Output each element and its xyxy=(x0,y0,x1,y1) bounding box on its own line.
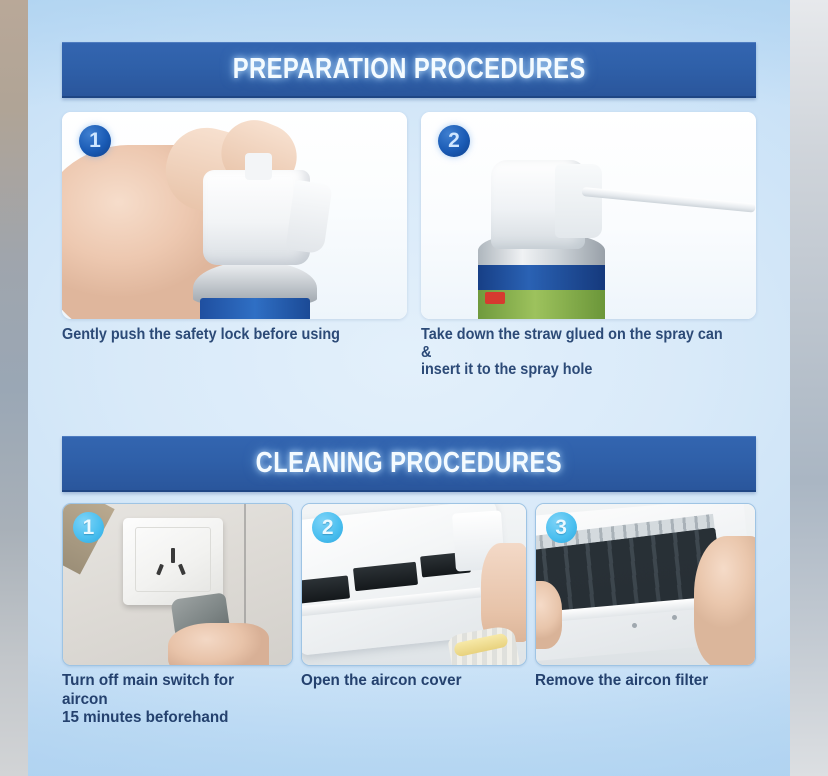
step-badge-prep-2: 2 xyxy=(438,125,470,157)
step-card-prep-1[interactable]: 1 Gently push the safety lock before usi… xyxy=(62,112,407,379)
banner-title-preparation: PREPARATION PROCEDURES xyxy=(233,53,586,86)
section-cleaning: CLEANING PROCEDURES xyxy=(28,436,790,728)
step-caption-clean-2: Open the aircon cover xyxy=(301,672,515,691)
banner-title-cleaning: CLEANING PROCEDURES xyxy=(256,447,562,480)
spray-can-straw-image xyxy=(421,112,756,319)
cleaning-steps-row: 1 Turn off main switch for aircon 15 min… xyxy=(28,503,790,728)
step-photo-prep-2: 2 xyxy=(421,112,756,319)
step-badge-clean-1: 1 xyxy=(73,512,104,543)
screenshot-frame: PREPARATION PROCEDURES xyxy=(0,0,828,776)
step-photo-clean-1: 1 xyxy=(62,503,293,666)
banner-cleaning: CLEANING PROCEDURES xyxy=(62,436,756,492)
step-card-clean-2[interactable]: 2 Open the aircon cover xyxy=(301,503,526,728)
step-photo-clean-3: 3 xyxy=(535,503,756,666)
banner-preparation: PREPARATION PROCEDURES xyxy=(62,42,756,98)
infographic-poster: PREPARATION PROCEDURES xyxy=(28,0,790,776)
section-preparation: PREPARATION PROCEDURES xyxy=(28,42,790,379)
step-caption-prep-1: Gently push the safety lock before using xyxy=(62,326,383,344)
step-card-prep-2[interactable]: 2 Take down the straw glued on the spray… xyxy=(421,112,756,379)
step-caption-clean-3: Remove the aircon filter xyxy=(535,672,745,691)
spray-can-safety-lock-image xyxy=(62,112,407,319)
step-badge-clean-3: 3 xyxy=(546,512,577,543)
preparation-steps-row: 1 Gently push the safety lock before usi… xyxy=(28,112,790,379)
step-photo-clean-2: 2 xyxy=(301,503,526,666)
step-caption-prep-2: Take down the straw glued on the spray c… xyxy=(421,326,733,379)
step-photo-prep-1: 1 xyxy=(62,112,407,319)
step-card-clean-1[interactable]: 1 Turn off main switch for aircon 15 min… xyxy=(62,503,293,728)
step-caption-clean-1: Turn off main switch for aircon 15 minut… xyxy=(62,672,282,728)
step-card-clean-3[interactable]: 3 Remove the aircon filter xyxy=(535,503,756,728)
step-badge-prep-1: 1 xyxy=(79,125,111,157)
